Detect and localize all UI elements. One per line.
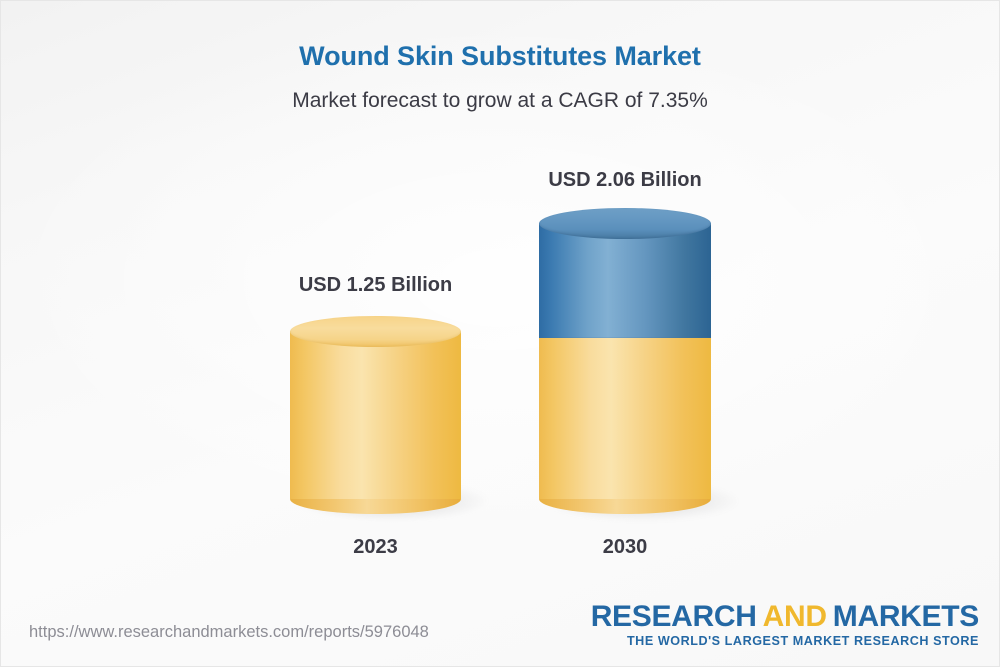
cylinder-2023[interactable]: [290, 316, 461, 514]
category-label-2023: 2023: [353, 536, 398, 559]
logo-tagline: THE WORLD'S LARGEST MARKET RESEARCH STOR…: [591, 634, 979, 648]
logo-word-and: AND: [763, 600, 827, 633]
logo-word-research: RESEARCH: [591, 600, 757, 633]
logo-wordmark: RESEARCHANDMARKETS: [591, 601, 979, 633]
cylinder-2030[interactable]: [539, 208, 711, 514]
cylinder-body-base: [290, 331, 461, 499]
cylinder-top-cap: [539, 208, 711, 239]
logo-word-markets: MARKETS: [833, 600, 979, 633]
value-label-2023: USD 1.25 Billion: [299, 274, 452, 297]
chart-title: Wound Skin Substitutes Market: [1, 41, 999, 72]
cylinder-body-growth: [539, 223, 711, 338]
segment-divider: [539, 337, 711, 338]
bar-group-2030[interactable]: USD 2.06 Billion 2030: [539, 161, 711, 561]
source-url[interactable]: https://www.researchandmarkets.com/repor…: [29, 623, 429, 642]
brand-logo[interactable]: RESEARCHANDMARKETS THE WORLD'S LARGEST M…: [591, 601, 979, 649]
cylinder-top-cap: [290, 316, 461, 347]
value-label-2030: USD 2.06 Billion: [548, 169, 701, 192]
bar-group-2023[interactable]: USD 1.25 Billion 2023: [290, 161, 461, 561]
chart-subtitle: Market forecast to grow at a CAGR of 7.3…: [1, 89, 999, 113]
category-label-2030: 2030: [603, 536, 648, 559]
cylinder-body-base: [539, 337, 711, 499]
chart-canvas: Wound Skin Substitutes Market Market for…: [0, 0, 1000, 667]
